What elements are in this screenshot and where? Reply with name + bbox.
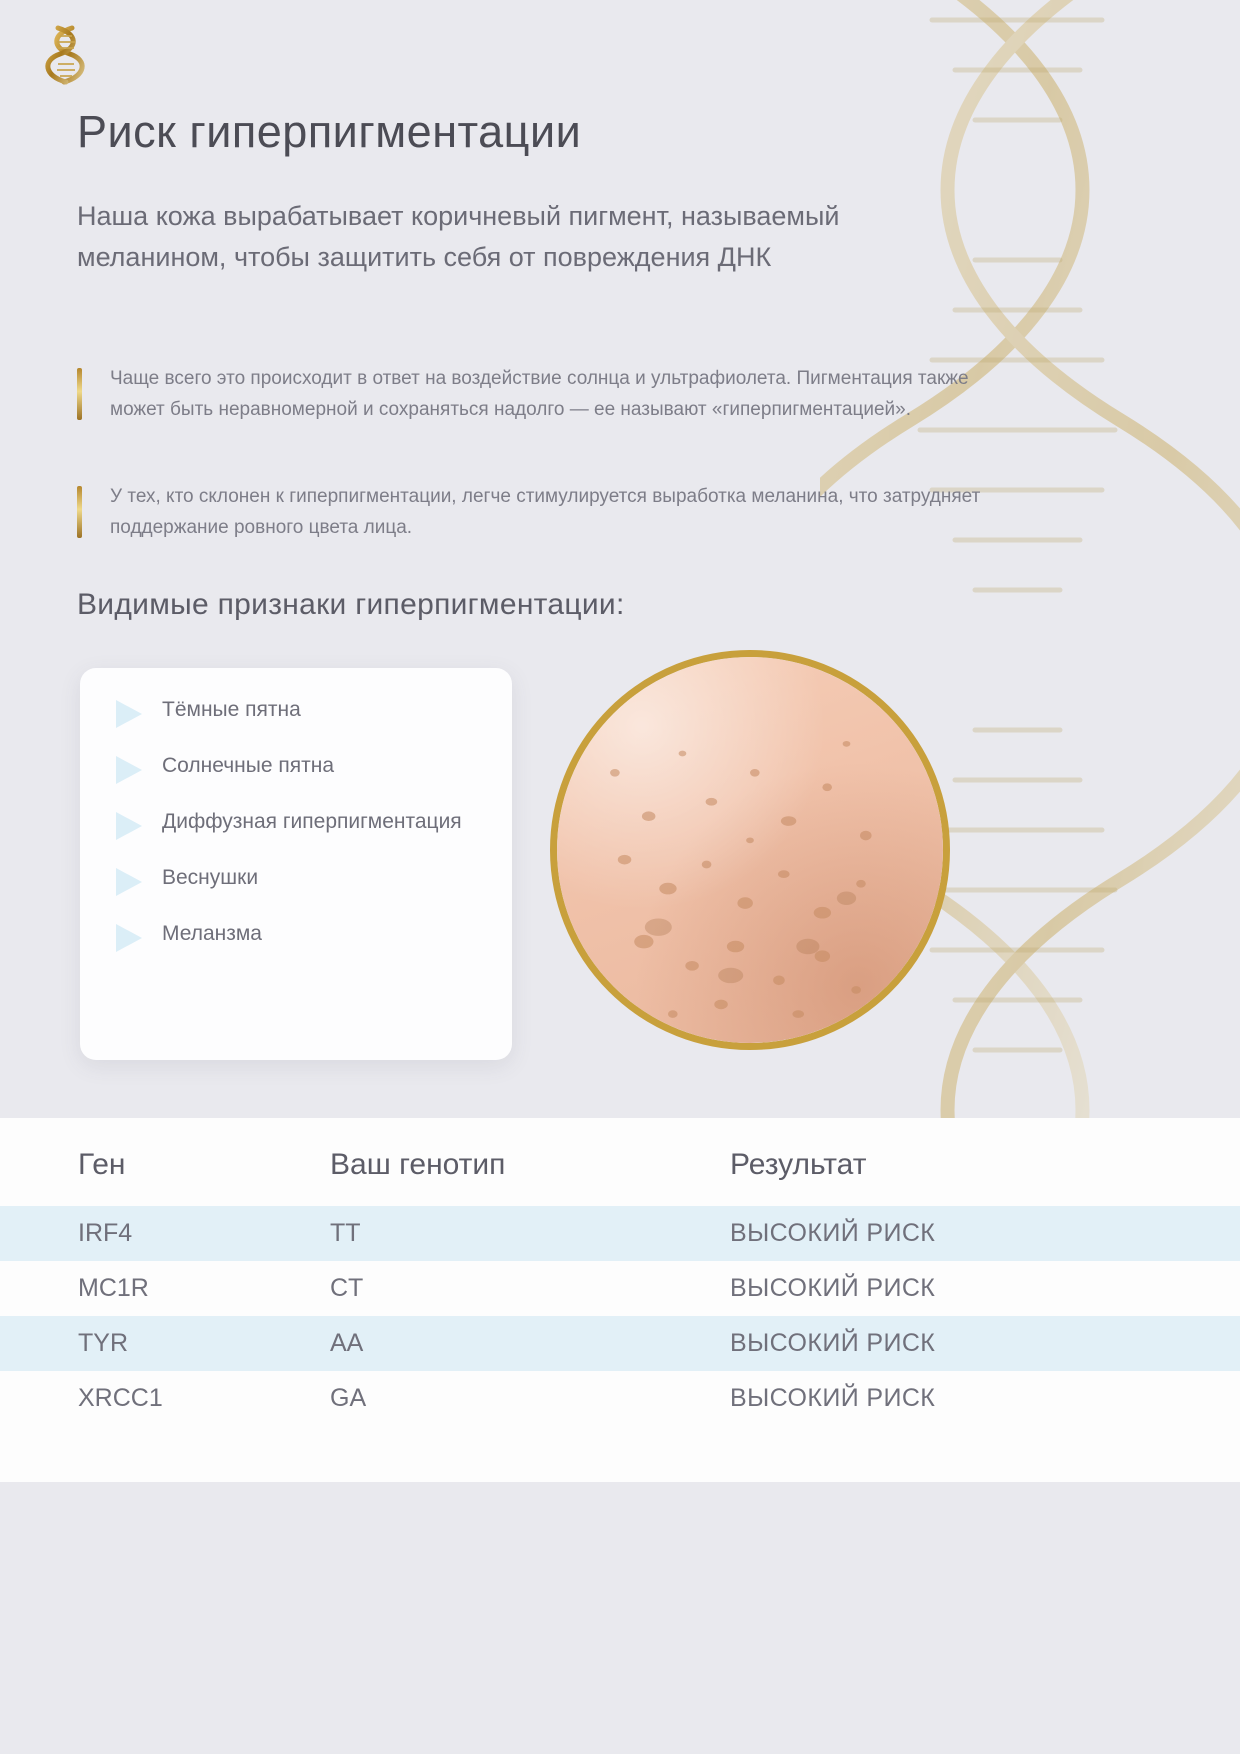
triangle-bullet-icon bbox=[116, 812, 142, 840]
sign-label: Диффузная гиперпигментация bbox=[162, 806, 462, 837]
table-row: IRF4 TT ВЫСОКИЙ РИСК bbox=[0, 1206, 1240, 1261]
cell-gene: XRCC1 bbox=[0, 1371, 330, 1426]
dna-helix-icon bbox=[42, 22, 88, 88]
list-item: Солнечные пятна bbox=[106, 750, 486, 786]
cell-genotype: GA bbox=[330, 1371, 730, 1426]
status-badge: ВЫСОКИЙ РИСК bbox=[730, 1206, 1240, 1261]
list-item: Диффузная гиперпигментация bbox=[106, 806, 486, 842]
page-title: Риск гиперпигментации bbox=[77, 106, 581, 158]
sign-label: Солнечные пятна bbox=[162, 750, 334, 781]
triangle-bullet-icon bbox=[116, 700, 142, 728]
sign-label: Тёмные пятна bbox=[162, 694, 301, 725]
quote-block-2: У тех, кто склонен к гиперпигментации, л… bbox=[77, 481, 997, 543]
triangle-bullet-icon bbox=[116, 868, 142, 896]
cell-genotype: CT bbox=[330, 1261, 730, 1316]
sign-label: Меланзма bbox=[162, 918, 262, 949]
column-header-gene: Ген bbox=[0, 1118, 330, 1206]
triangle-bullet-icon bbox=[116, 756, 142, 784]
status-badge: ВЫСОКИЙ РИСК bbox=[730, 1261, 1240, 1316]
list-item: Тёмные пятна bbox=[106, 694, 486, 730]
signs-card: Тёмные пятна Солнечные пятна Диффузная г… bbox=[80, 668, 512, 1060]
genetics-table: Ген Ваш генотип Результат IRF4 TT ВЫСОКИ… bbox=[0, 1118, 1240, 1426]
cell-gene: TYR bbox=[0, 1316, 330, 1371]
status-badge: ВЫСОКИЙ РИСК bbox=[730, 1371, 1240, 1426]
table-row: XRCC1 GA ВЫСОКИЙ РИСК bbox=[0, 1371, 1240, 1426]
list-item: Веснушки bbox=[106, 862, 486, 898]
intro-paragraph: Наша кожа вырабатывает коричневый пигмен… bbox=[77, 196, 957, 278]
triangle-bullet-icon bbox=[116, 924, 142, 952]
column-header-result: Результат bbox=[730, 1118, 1240, 1206]
status-badge: ВЫСОКИЙ РИСК bbox=[730, 1316, 1240, 1371]
genetics-table-section: Ген Ваш генотип Результат IRF4 TT ВЫСОКИ… bbox=[0, 1118, 1240, 1482]
table-row: MC1R CT ВЫСОКИЙ РИСК bbox=[0, 1261, 1240, 1316]
table-header-row: Ген Ваш генотип Результат bbox=[0, 1118, 1240, 1206]
cell-gene: IRF4 bbox=[0, 1206, 330, 1261]
signs-section-heading: Видимые признаки гиперпигментации: bbox=[77, 588, 625, 622]
column-header-genotype: Ваш генотип bbox=[330, 1118, 730, 1206]
cell-genotype: AA bbox=[330, 1316, 730, 1371]
skin-hyperpigmentation-photo bbox=[550, 650, 950, 1050]
quote-block-1: Чаще всего это происходит в ответ на воз… bbox=[77, 363, 997, 425]
list-item: Меланзма bbox=[106, 918, 486, 954]
cell-gene: MC1R bbox=[0, 1261, 330, 1316]
sign-label: Веснушки bbox=[162, 862, 258, 893]
cell-genotype: TT bbox=[330, 1206, 730, 1261]
table-row: TYR AA ВЫСОКИЙ РИСК bbox=[0, 1316, 1240, 1371]
